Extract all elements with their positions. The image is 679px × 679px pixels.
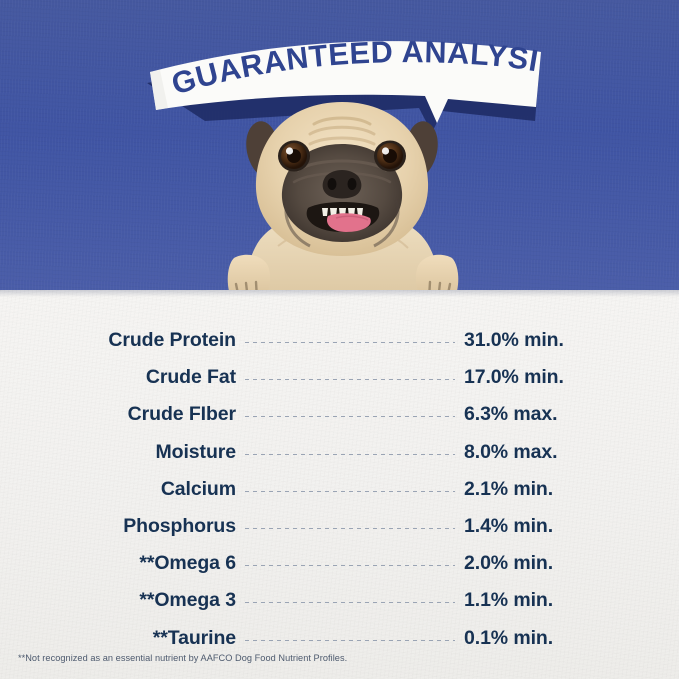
table-row: Crude Fat 17.0% min.	[0, 359, 679, 396]
leader-dots	[245, 528, 455, 529]
table-row: **Taurine 0.1% min.	[0, 620, 679, 657]
leader-dots	[245, 491, 455, 492]
leader-dots	[245, 416, 455, 417]
table-row: Moisture 8.0% max.	[0, 434, 679, 471]
nutrient-value: 0.1% min.	[464, 627, 679, 650]
leader-dots	[245, 379, 455, 380]
pug-dog-image	[218, 96, 468, 311]
table-row: Phosphorus 1.4% min.	[0, 508, 679, 545]
nutrient-label: **Omega 3	[0, 589, 236, 612]
guaranteed-analysis-infographic: GUARANTEED ANALYSIS	[0, 0, 679, 679]
nutrient-label: **Omega 6	[0, 552, 236, 575]
nutrient-label: Calcium	[0, 478, 236, 501]
nutrient-value: 8.0% max.	[464, 441, 679, 464]
nutrient-value: 31.0% min.	[464, 329, 679, 352]
nutrient-label: Moisture	[0, 441, 236, 464]
guaranteed-analysis-table: Crude Protein 31.0% min. Crude Fat 17.0%…	[0, 322, 679, 657]
nutrient-label: Crude Protein	[0, 329, 236, 352]
leader-dots	[245, 342, 455, 343]
footnote-text: **Not recognized as an essential nutrien…	[18, 653, 347, 663]
nutrient-value: 17.0% min.	[464, 366, 679, 389]
table-row: Crude FIber 6.3% max.	[0, 396, 679, 433]
svg-text:GUARANTEED ANALYSIS: GUARANTEED ANALYSIS	[0, 0, 541, 102]
table-row: **Omega 6 2.0% min.	[0, 545, 679, 582]
nutrient-value: 6.3% max.	[464, 403, 679, 426]
nutrient-label: Phosphorus	[0, 515, 236, 538]
table-row: **Omega 3 1.1% min.	[0, 582, 679, 619]
nutrient-value: 2.1% min.	[464, 478, 679, 501]
nutrient-value: 1.4% min.	[464, 515, 679, 538]
leader-dots	[245, 602, 455, 603]
leader-dots	[245, 565, 455, 566]
nutrient-value: 2.0% min.	[464, 552, 679, 575]
table-row: Calcium 2.1% min.	[0, 471, 679, 508]
pug-dog-illustration	[218, 96, 468, 311]
leader-dots	[245, 454, 455, 455]
nutrient-value: 1.1% min.	[464, 589, 679, 612]
table-row: Crude Protein 31.0% min.	[0, 322, 679, 359]
leader-dots	[245, 640, 455, 641]
nutrient-label: **Taurine	[0, 627, 236, 650]
nutrient-label: Crude Fat	[0, 366, 236, 389]
banner-title-text: GUARANTEED ANALYSIS	[0, 0, 541, 102]
nutrient-label: Crude FIber	[0, 403, 236, 426]
